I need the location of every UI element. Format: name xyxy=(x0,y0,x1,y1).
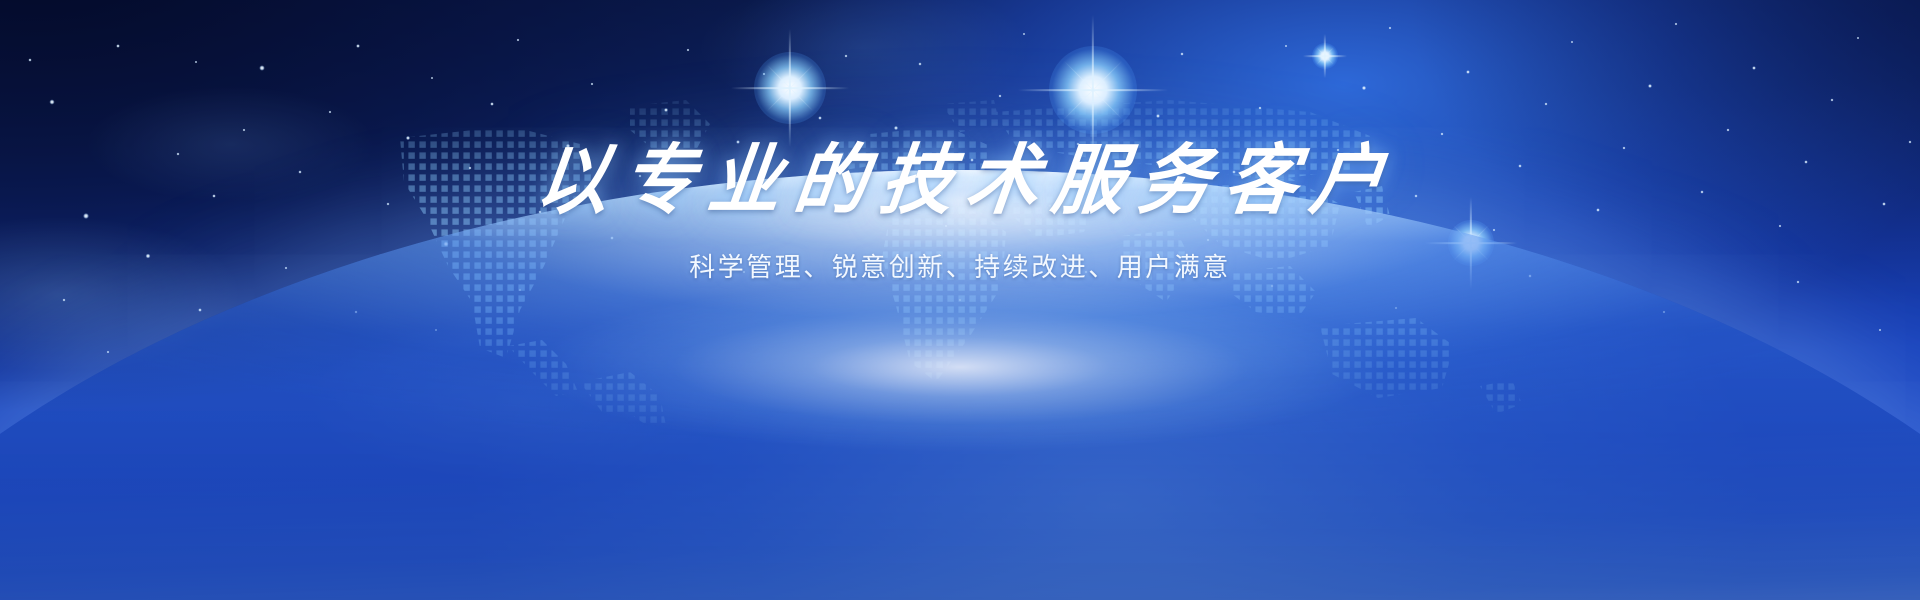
flare-core xyxy=(1312,43,1338,69)
banner-text-block: 以专业的技术服务客户 科学管理、锐意创新、持续改进、用户满意 xyxy=(0,140,1920,284)
flare-core xyxy=(754,52,826,124)
flare-ray xyxy=(1324,34,1326,78)
star-flare-left xyxy=(754,52,826,124)
star-flare-small-upper xyxy=(1312,43,1338,69)
flare-ray xyxy=(1018,89,1168,91)
banner-subtitle: 科学管理、锐意创新、持续改进、用户满意 xyxy=(0,247,1920,284)
flare-ray xyxy=(731,87,849,89)
flare-ray xyxy=(767,65,814,112)
flare-ray xyxy=(1063,60,1122,119)
flare-ray xyxy=(767,65,814,112)
flare-ray xyxy=(789,29,791,147)
flare-ray xyxy=(1316,47,1334,65)
flare-ray xyxy=(1303,55,1347,57)
flare-ray xyxy=(1063,60,1122,119)
hero-banner: 以专业的技术服务客户 科学管理、锐意创新、持续改进、用户满意 xyxy=(0,0,1920,600)
flare-ray xyxy=(1316,47,1334,65)
star-flare-right xyxy=(1049,46,1137,134)
banner-headline: 以专业的技术服务客户 xyxy=(0,138,1920,223)
flare-core xyxy=(1049,46,1137,134)
